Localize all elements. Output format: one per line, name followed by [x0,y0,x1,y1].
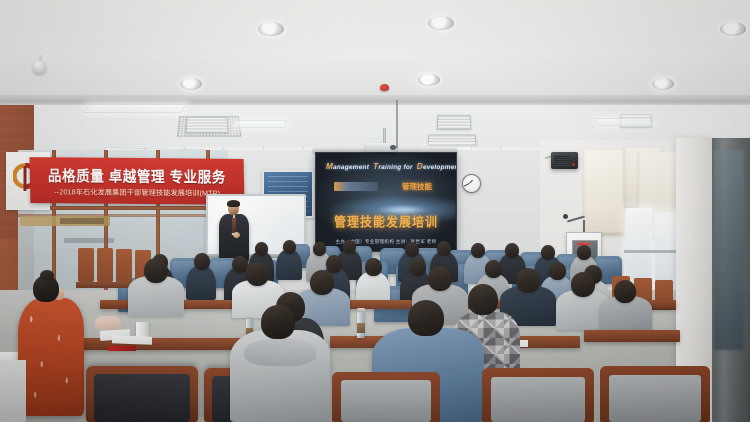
downlight-icon [428,16,454,30]
downlight-icon [180,78,202,90]
downlight-icon [258,22,284,36]
ac-vent-icon [437,115,472,130]
foreground-chair [332,372,440,422]
foreground-chair [482,368,594,422]
attendee-head [144,258,168,283]
screen-logo [334,182,378,191]
ceiling-strip-light [83,104,187,113]
bottle-cap [357,308,365,312]
attendee-head [408,300,444,336]
attendee-head [549,262,566,280]
desk [584,330,680,342]
attendee-hair-bun [40,270,54,281]
ac-vent-icon [185,117,228,133]
attendee-head [326,255,342,273]
attendee-head [246,262,269,286]
screen-orange-tag: 管理技能 [388,181,446,192]
attendee-head [194,253,210,270]
attendee-head [405,242,419,257]
attendee-head [365,258,382,276]
attendee-head [310,270,334,295]
attendee-head [516,268,540,293]
downlight-icon [720,22,746,36]
attendee-body [186,266,216,300]
column-glass-reflection [714,150,744,350]
attendee-head [577,245,591,260]
attendee-head [283,240,296,254]
ceiling-strip-light [231,120,288,128]
partition-notice-text [64,238,114,243]
security-camera-icon [33,60,46,73]
screen-english-line: MManagement Training for Development Pro… [326,162,448,171]
attendee-head [471,243,485,258]
downlight-icon [418,74,440,86]
handout-paper [112,335,152,344]
desk-red-folder [108,346,136,351]
attendee-head [428,266,452,291]
attendee-head [343,240,356,254]
attendee-head [409,258,426,276]
attendee-head [505,243,519,258]
foreground-chair [86,366,198,422]
attendee-head [255,242,268,256]
foreground-paper-panel [0,360,26,422]
screen-main-title: 管理技能发展培训 [324,212,448,230]
projector-lens [390,145,396,150]
attendee-head [485,260,502,278]
attendee-head [468,284,498,315]
ceiling-strip-light [594,118,653,126]
microphone-icon [563,214,568,219]
attendee-head [614,280,636,303]
partition-signage-text [60,218,104,224]
presenter-hair [227,200,240,207]
presenter-hand [233,232,240,238]
speaker-indicator [572,163,575,166]
side-chair [116,249,132,283]
bottle-label [357,323,365,333]
training-room-photo: 品格质量 卓越管理 专业服务 --2018年石化发展集团干部管理技能发展培训(M… [0,0,750,422]
side-chair [78,248,94,282]
banner-title: 品格质量 卓越管理 专业服务 [48,163,226,187]
ceiling-front-soffit [0,0,750,100]
wall-clock-icon [462,174,481,193]
window-handrail [624,250,678,253]
attendee-head [313,242,326,256]
attendee-head [437,241,451,256]
side-chair [97,248,113,282]
foreground-chair [600,366,710,422]
attendee-body [276,250,302,280]
ceiling-cable [396,100,398,148]
banner-subtitle: --2018年石化发展集团干部管理技能发展培训(MTP) [54,187,220,198]
attendee-head [571,272,595,297]
window-roller-shade[interactable] [583,150,624,236]
projection-screen: MManagement Training for Development Pro… [315,152,457,252]
bottle-cap [246,315,253,319]
smoke-detector-icon [380,84,389,91]
hoodie-hood [244,338,316,366]
attendee-body-orange-jacket [18,298,84,416]
speaker-grille [554,155,570,166]
attendee-head [541,245,555,260]
attendee-head [261,305,295,339]
ac-vent-icon [427,135,476,146]
desk-item-bag [95,316,121,330]
downlight-icon [652,78,674,90]
